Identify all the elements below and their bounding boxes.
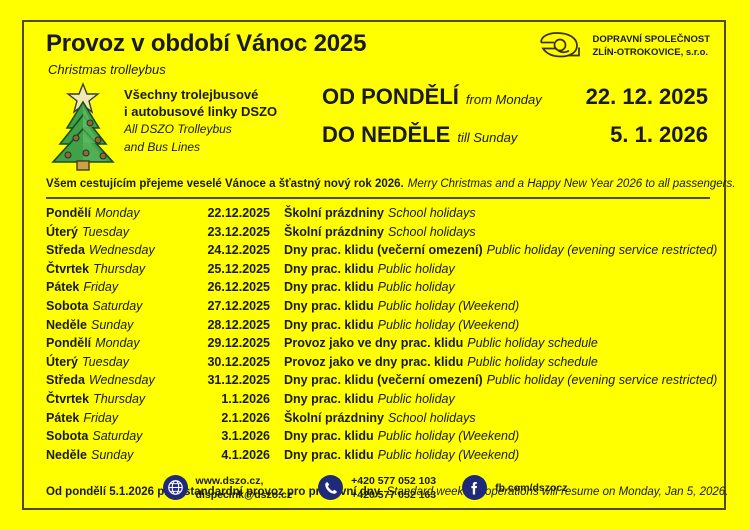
cell-description: Dny prac. kliduPublic holiday (Weekend) (284, 299, 519, 313)
cell-day: PondělíMonday (46, 336, 194, 350)
website-url: www.dszo.cz, (196, 475, 264, 487)
email-address: dispecink@dszo.cz (196, 489, 293, 501)
lines-cz-line1: Všechny trolejbusové (124, 86, 319, 103)
affected-lines: Všechny trolejbusové i autobusové linky … (124, 86, 319, 156)
period-till-label-en: till Sunday (457, 130, 517, 145)
page-subtitle: Christmas trolleybus (48, 62, 166, 77)
table-row: NeděleSunday 4.1.2026 Dny prac. kliduPub… (46, 448, 710, 467)
period-from-label-en: from Monday (466, 92, 542, 107)
phone-icon (318, 475, 343, 500)
phone-number-2: +420 577 052 163 (351, 489, 436, 501)
cell-description: Dny prac. klidu (večerní omezení)Public … (284, 243, 717, 257)
greeting-cz: Všem cestujícím přejeme veselé Vánoce a … (46, 178, 404, 190)
contact-web-text: www.dszo.cz, dispecink@dszo.cz (196, 474, 293, 502)
validity-period: OD PONDĚLÍ from Monday 22. 12. 2025 DO N… (322, 84, 714, 160)
christmas-tree-icon (46, 82, 120, 174)
cell-day: PátekFriday (46, 411, 194, 425)
contact-web[interactable]: www.dszo.cz, dispecink@dszo.cz (163, 474, 293, 502)
period-from-row: OD PONDĚLÍ from Monday 22. 12. 2025 (322, 84, 714, 122)
cell-day: ÚterýTuesday (46, 225, 194, 239)
period-from-date: 22. 12. 2025 (586, 84, 714, 110)
cell-date: 25.12.2025 (194, 262, 284, 276)
cell-day: PátekFriday (46, 280, 194, 294)
cell-day: ČtvrtekThursday (46, 392, 194, 406)
cell-day: NeděleSunday (46, 448, 194, 462)
table-row: StředaWednesday 24.12.2025 Dny prac. kli… (46, 243, 710, 262)
schedule-table: PondělíMonday 22.12.2025 Školní prázdnin… (46, 206, 710, 466)
contact-facebook[interactable]: fb.com/dszocz (462, 475, 567, 500)
greeting-en: Merry Christmas and a Happy New Year 202… (408, 178, 736, 190)
period-till-row: DO NEDĚLE till Sunday 5. 1. 2026 (322, 122, 714, 160)
cell-description: Dny prac. kliduPublic holiday (284, 262, 455, 276)
phone-number-1: +420 577 052 103 (351, 475, 436, 487)
table-row: ČtvrtekThursday 1.1.2026 Dny prac. klidu… (46, 392, 710, 411)
greeting-banner: Všem cestujícím přejeme veselé Vánoce a … (46, 170, 710, 199)
cell-date: 30.12.2025 (194, 355, 284, 369)
cell-date: 27.12.2025 (194, 299, 284, 313)
company-name-line2: ZLÍN-OTROKOVICE, s.r.o. (592, 47, 708, 58)
dszo-logo-icon (537, 30, 583, 64)
table-row: PátekFriday 26.12.2025 Dny prac. kliduPu… (46, 280, 710, 299)
cell-date: 29.12.2025 (194, 336, 284, 350)
table-row: PondělíMonday 29.12.2025 Provoz jako ve … (46, 336, 710, 355)
cell-date: 1.1.2026 (194, 392, 284, 406)
table-row: StředaWednesday 31.12.2025 Dny prac. kli… (46, 373, 710, 392)
hero-band: Všechny trolejbusové i autobusové linky … (24, 82, 724, 170)
poster-frame: Provoz v období Vánoc 2025 Christmas tro… (22, 20, 726, 510)
cell-date: 4.1.2026 (194, 448, 284, 462)
table-row: SobotaSaturday 27.12.2025 Dny prac. klid… (46, 299, 710, 318)
table-row: ÚterýTuesday 30.12.2025 Provoz jako ve d… (46, 355, 710, 374)
cell-description: Dny prac. kliduPublic holiday (284, 392, 455, 406)
period-till-date: 5. 1. 2026 (610, 122, 714, 148)
table-row: SobotaSaturday 3.1.2026 Dny prac. kliduP… (46, 429, 710, 448)
cell-description: Školní prázdninySchool holidays (284, 225, 476, 239)
cell-date: 24.12.2025 (194, 243, 284, 257)
company-name-line1: DOPRAVNÍ SPOLEČNOST (592, 34, 710, 45)
lines-en-line2: and Bus Lines (124, 140, 319, 156)
cell-date: 2.1.2026 (194, 411, 284, 425)
cell-description: Provoz jako ve dny prac. kliduPublic hol… (284, 355, 598, 369)
cell-date: 23.12.2025 (194, 225, 284, 239)
cell-day: ÚterýTuesday (46, 355, 194, 369)
lines-en-line1: All DSZO Trolleybus (124, 122, 319, 138)
cell-date: 28.12.2025 (194, 318, 284, 332)
cell-date: 3.1.2026 (194, 429, 284, 443)
cell-description: Dny prac. klidu (večerní omezení)Public … (284, 373, 717, 387)
period-till-label-cz: DO NEDĚLE (322, 122, 450, 148)
contact-bar: www.dszo.cz, dispecink@dszo.cz +420 577 … (24, 474, 724, 502)
cell-description: Školní prázdninySchool holidays (284, 411, 476, 425)
globe-icon (163, 475, 188, 500)
cell-description: Provoz jako ve dny prac. kliduPublic hol… (284, 336, 598, 350)
cell-day: StředaWednesday (46, 373, 194, 387)
table-row: NeděleSunday 28.12.2025 Dny prac. kliduP… (46, 318, 710, 337)
cell-date: 22.12.2025 (194, 206, 284, 220)
cell-description: Dny prac. kliduPublic holiday (284, 280, 455, 294)
cell-day: PondělíMonday (46, 206, 194, 220)
lines-cz-line2: i autobusové linky DSZO (124, 103, 319, 120)
page-title: Provoz v období Vánoc 2025 (46, 30, 366, 58)
company-branding: DOPRAVNÍ SPOLEČNOST ZLÍN-OTROKOVICE, s.r… (537, 30, 710, 64)
cell-day: NeděleSunday (46, 318, 194, 332)
cell-description: Dny prac. kliduPublic holiday (Weekend) (284, 429, 519, 443)
contact-phone-text: +420 577 052 103 +420 577 052 163 (351, 474, 436, 502)
table-row: ČtvrtekThursday 25.12.2025 Dny prac. kli… (46, 262, 710, 281)
poster-header: Provoz v období Vánoc 2025 Christmas tro… (24, 22, 724, 82)
cell-day: SobotaSaturday (46, 429, 194, 443)
cell-description: Dny prac. kliduPublic holiday (Weekend) (284, 318, 519, 332)
cell-description: Školní prázdninySchool holidays (284, 206, 476, 220)
cell-day: ČtvrtekThursday (46, 262, 194, 276)
cell-description: Dny prac. kliduPublic holiday (Weekend) (284, 448, 519, 462)
table-row: PondělíMonday 22.12.2025 Školní prázdnin… (46, 206, 710, 225)
cell-day: SobotaSaturday (46, 299, 194, 313)
period-from-label-cz: OD PONDĚLÍ (322, 84, 459, 110)
table-row: ÚterýTuesday 23.12.2025 Školní prázdniny… (46, 225, 710, 244)
company-name: DOPRAVNÍ SPOLEČNOST ZLÍN-OTROKOVICE, s.r… (592, 34, 710, 60)
table-row: PátekFriday 2.1.2026 Školní prázdninySch… (46, 411, 710, 430)
facebook-handle: fb.com/dszocz (495, 482, 567, 494)
cell-date: 31.12.2025 (194, 373, 284, 387)
cell-date: 26.12.2025 (194, 280, 284, 294)
contact-phone[interactable]: +420 577 052 103 +420 577 052 163 (318, 474, 436, 502)
facebook-icon (462, 475, 487, 500)
cell-day: StředaWednesday (46, 243, 194, 257)
